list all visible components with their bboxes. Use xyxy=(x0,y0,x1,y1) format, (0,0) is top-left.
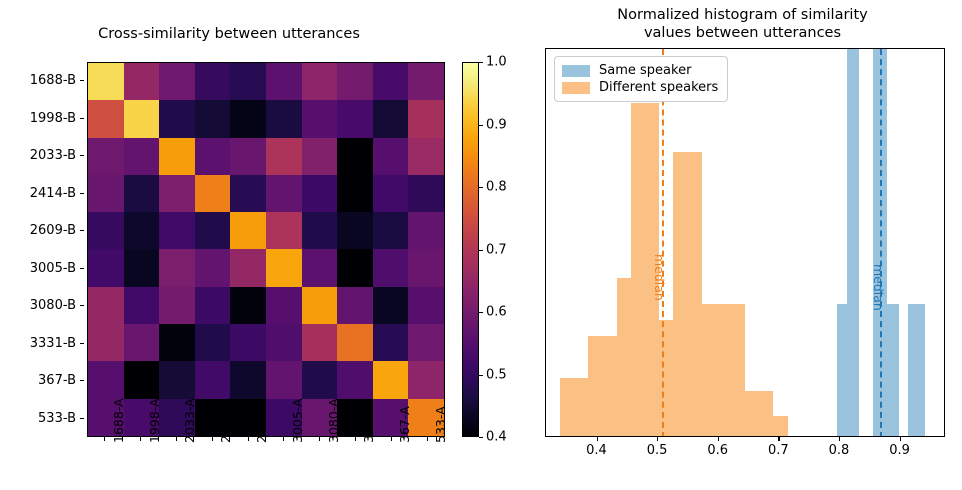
heatmap-y-label-8: 367-B xyxy=(0,362,80,400)
tick-mark xyxy=(80,118,84,119)
heatmap-cell-r1-c5 xyxy=(266,100,302,137)
heatmap-cell-r2-c0 xyxy=(88,138,124,175)
tick-mark xyxy=(80,155,84,156)
heatmap-cell-r2-c4 xyxy=(230,138,266,175)
heatmap-cell-r1-c7 xyxy=(337,100,373,137)
heatmap-x-label-8: 367-A xyxy=(397,406,412,443)
legend-label-different-speakers: Different speakers xyxy=(599,80,718,95)
heatmap-x-label-wrap-6: 3080-A xyxy=(302,443,338,490)
histogram-x-tick-1 xyxy=(657,437,658,441)
histogram-title-line2: values between utterances xyxy=(530,24,955,42)
heatmap-cell-r0-c5 xyxy=(266,63,302,100)
histogram-bar-same-speaker-0 xyxy=(837,304,847,436)
heatmap-cell-r6-c1 xyxy=(124,287,160,324)
colorbar-tick-0 xyxy=(479,437,483,438)
histogram-x-tick-label-4: 0.8 xyxy=(829,443,850,458)
colorbar-tick-label-3: 0.7 xyxy=(486,242,507,257)
heatmap-y-tick-2 xyxy=(80,137,87,175)
heatmap-cell-r7-c7 xyxy=(337,324,373,361)
histogram-x-tick-0 xyxy=(597,437,598,441)
heatmap-cell-r1-c9 xyxy=(408,100,444,137)
tick-mark xyxy=(80,380,84,381)
median-line-same-speaker xyxy=(880,49,882,437)
histogram-bar-different-speakers-5 xyxy=(673,152,701,436)
heatmap-cell-r8-c9 xyxy=(408,361,444,398)
heatmap-cell-r6-c8 xyxy=(373,287,409,324)
heatmap-y-label-1: 1998-B xyxy=(0,100,80,138)
heatmap-y-label-5: 3005-B xyxy=(0,250,80,288)
heatmap-cell-r3-c1 xyxy=(124,175,160,212)
colorbar-tick-5 xyxy=(479,125,483,126)
heatmap-panel: Cross-similarity between utterances 1688… xyxy=(0,0,520,490)
heatmap-x-label-4: 2609-A xyxy=(254,398,269,443)
heatmap-cell-r5-c1 xyxy=(124,249,160,286)
median-label-same-speaker: median xyxy=(871,264,886,311)
heatmap-y-label-3: 2414-B xyxy=(0,175,80,213)
heatmap-cell-r4-c2 xyxy=(159,212,195,249)
tick-mark xyxy=(80,343,84,344)
colorbar-tick-4 xyxy=(479,187,483,188)
tick-mark xyxy=(176,437,177,441)
legend-item-same-speaker: Same speaker xyxy=(562,62,718,79)
histogram-bar-different-speakers-6 xyxy=(702,304,745,436)
heatmap-x-label-wrap-2: 2033-A xyxy=(159,443,195,490)
heatmap-cell-r0-c1 xyxy=(124,63,160,100)
histogram-x-axis-ticks xyxy=(545,437,945,442)
median-line-different-speakers xyxy=(662,49,664,437)
heatmap-cell-r5-c3 xyxy=(195,249,231,286)
colorbar-tick-labels: 0.40.50.60.70.80.91.0 xyxy=(486,62,520,437)
histogram-bar-same-speaker-1 xyxy=(847,48,859,436)
heatmap-plot-area xyxy=(87,62,445,437)
heatmap-cell-r8-c0 xyxy=(88,361,124,398)
heatmap-cell-r1-c8 xyxy=(373,100,409,137)
colorbar-tick-2 xyxy=(479,312,483,313)
colorbar-tick-label-0: 0.4 xyxy=(486,430,507,445)
tick-mark xyxy=(391,437,392,441)
histogram-bar-same-speaker-4 xyxy=(908,304,925,436)
tick-mark xyxy=(248,437,249,441)
heatmap-title: Cross-similarity between utterances xyxy=(0,26,458,42)
heatmap-cell-r0-c4 xyxy=(230,63,266,100)
heatmap-y-tick-4 xyxy=(80,212,87,250)
heatmap-x-label-wrap-3: 2414-A xyxy=(194,443,230,490)
colorbar-tick-label-1: 0.5 xyxy=(486,367,507,382)
heatmap-y-tick-6 xyxy=(80,287,87,325)
heatmap-x-label-2: 2033-A xyxy=(182,398,197,443)
heatmap-cell-r5-c6 xyxy=(302,249,338,286)
histogram-bar-different-speakers-0 xyxy=(560,378,588,436)
heatmap-cell-r4-c7 xyxy=(337,212,373,249)
histogram-x-tick-label-5: 0.9 xyxy=(889,443,910,458)
histogram-bar-same-speaker-3 xyxy=(887,304,900,436)
heatmap-x-label-9: 533-A xyxy=(433,406,448,443)
tick-mark xyxy=(80,230,84,231)
heatmap-cell-r3-c8 xyxy=(373,175,409,212)
heatmap-cell-r7-c3 xyxy=(195,324,231,361)
histogram-x-axis-labels: 0.40.50.60.70.80.9 xyxy=(545,443,945,463)
histogram-bar-different-speakers-8 xyxy=(773,416,788,436)
heatmap-cell-r7-c1 xyxy=(124,324,160,361)
heatmap-y-tick-3 xyxy=(80,175,87,213)
heatmap-x-label-wrap-7: 3331-A xyxy=(338,443,374,490)
heatmap-cell-r2-c2 xyxy=(159,138,195,175)
heatmap-cell-r5-c2 xyxy=(159,249,195,286)
heatmap-cell-grid xyxy=(88,63,444,436)
histogram-title-line1: Normalized histogram of similarity xyxy=(530,6,955,24)
colorbar-tick-1 xyxy=(479,375,483,376)
heatmap-cell-r4-c8 xyxy=(373,212,409,249)
heatmap-y-tick-8 xyxy=(80,362,87,400)
heatmap-cell-r5-c8 xyxy=(373,249,409,286)
heatmap-cell-r3-c2 xyxy=(159,175,195,212)
heatmap-cell-r8-c2 xyxy=(159,361,195,398)
heatmap-cell-r8-c6 xyxy=(302,361,338,398)
heatmap-cell-r5-c9 xyxy=(408,249,444,286)
heatmap-cell-r1-c3 xyxy=(195,100,231,137)
legend-label-same-speaker: Same speaker xyxy=(599,63,691,78)
heatmap-cell-r3-c3 xyxy=(195,175,231,212)
heatmap-cell-r5-c0 xyxy=(88,249,124,286)
heatmap-x-label-wrap-5: 3005-A xyxy=(266,443,302,490)
heatmap-cell-r8-c3 xyxy=(195,361,231,398)
histogram-legend: Same speaker Different speakers xyxy=(554,56,728,102)
tick-mark xyxy=(427,437,428,441)
histogram-plot-area: medianmedian Same speaker Different spea… xyxy=(545,48,945,437)
heatmap-cell-r7-c8 xyxy=(373,324,409,361)
heatmap-cell-r6-c3 xyxy=(195,287,231,324)
heatmap-cell-r8-c1 xyxy=(124,361,160,398)
heatmap-y-tick-5 xyxy=(80,250,87,288)
heatmap-y-label-6: 3080-B xyxy=(0,287,80,325)
histogram-x-tick-label-0: 0.4 xyxy=(586,443,607,458)
heatmap-x-label-wrap-8: 367-A xyxy=(373,443,409,490)
heatmap-cell-r3-c9 xyxy=(408,175,444,212)
heatmap-x-label-1: 1998-A xyxy=(147,398,162,443)
colorbar-tick-label-6: 1.0 xyxy=(486,55,507,70)
heatmap-cell-r7-c0 xyxy=(88,324,124,361)
heatmap-x-label-6: 3080-A xyxy=(326,398,341,443)
heatmap-y-label-9: 533-B xyxy=(0,400,80,438)
tick-mark xyxy=(80,193,84,194)
histogram-x-tick-label-3: 0.7 xyxy=(768,443,789,458)
heatmap-x-axis-labels: 1688-A1998-A2033-A2414-A2609-A3005-A3080… xyxy=(87,443,445,490)
heatmap-cell-r6-c6 xyxy=(302,287,338,324)
tick-mark xyxy=(80,80,84,81)
heatmap-cell-r5-c4 xyxy=(230,249,266,286)
heatmap-cell-r0-c3 xyxy=(195,63,231,100)
heatmap-cell-r6-c9 xyxy=(408,287,444,324)
tick-mark xyxy=(80,418,84,419)
heatmap-cell-r8-c7 xyxy=(337,361,373,398)
tick-mark xyxy=(104,437,105,441)
tick-mark xyxy=(80,268,84,269)
heatmap-cell-r2-c9 xyxy=(408,138,444,175)
colorbar-tick-label-2: 0.6 xyxy=(486,305,507,320)
heatmap-y-label-4: 2609-B xyxy=(0,212,80,250)
heatmap-x-label-wrap-9: 533-A xyxy=(409,443,445,490)
histogram-x-tick-label-1: 0.5 xyxy=(647,443,668,458)
heatmap-cell-r0-c7 xyxy=(337,63,373,100)
histogram-x-tick-4 xyxy=(839,437,840,441)
histogram-bar-different-speakers-7 xyxy=(745,391,773,436)
heatmap-x-label-0: 1688-A xyxy=(111,398,126,443)
tick-mark xyxy=(355,437,356,441)
heatmap-x-label-wrap-4: 2609-A xyxy=(230,443,266,490)
tick-mark xyxy=(319,437,320,441)
heatmap-cell-r7-c2 xyxy=(159,324,195,361)
heatmap-y-axis-labels: 1688-B1998-B2033-B2414-B2609-B3005-B3080… xyxy=(0,62,80,437)
colorbar-tick-label-5: 0.9 xyxy=(486,117,507,132)
heatmap-y-tick-7 xyxy=(80,325,87,363)
histogram-x-tick-3 xyxy=(778,437,779,441)
legend-swatch-different-speakers xyxy=(562,82,590,94)
histogram-bar-different-speakers-2 xyxy=(617,278,631,436)
tick-mark xyxy=(80,305,84,306)
heatmap-cell-r0-c8 xyxy=(373,63,409,100)
heatmap-y-tick-9 xyxy=(80,400,87,438)
colorbar-tick-3 xyxy=(479,250,483,251)
colorbar-tick-6 xyxy=(479,62,483,63)
heatmap-y-label-0: 1688-B xyxy=(0,62,80,100)
heatmap-cell-r0-c6 xyxy=(302,63,338,100)
heatmap-cell-r2-c1 xyxy=(124,138,160,175)
heatmap-cell-r5-c5 xyxy=(266,249,302,286)
heatmap-cell-r1-c1 xyxy=(124,100,160,137)
heatmap-cell-r4-c3 xyxy=(195,212,231,249)
heatmap-y-tick-0 xyxy=(80,62,87,100)
heatmap-cell-r3-c6 xyxy=(302,175,338,212)
heatmap-cell-r1-c0 xyxy=(88,100,124,137)
heatmap-cell-r4-c4 xyxy=(230,212,266,249)
colorbar-ticks xyxy=(479,62,485,437)
tick-mark xyxy=(212,437,213,441)
median-label-different-speakers: median xyxy=(652,254,667,301)
histogram-bar-different-speakers-1 xyxy=(588,336,616,436)
heatmap-cell-r0-c2 xyxy=(159,63,195,100)
heatmap-cell-r2-c3 xyxy=(195,138,231,175)
heatmap-x-label-wrap-1: 1998-A xyxy=(123,443,159,490)
heatmap-cell-r0-c9 xyxy=(408,63,444,100)
heatmap-cell-r8-c8 xyxy=(373,361,409,398)
heatmap-x-label-wrap-0: 1688-A xyxy=(87,443,123,490)
heatmap-y-axis-ticks xyxy=(80,62,87,437)
heatmap-y-label-2: 2033-B xyxy=(0,137,80,175)
heatmap-cell-r6-c2 xyxy=(159,287,195,324)
heatmap-cell-r2-c6 xyxy=(302,138,338,175)
legend-item-different-speakers: Different speakers xyxy=(562,79,718,96)
heatmap-cell-r4-c6 xyxy=(302,212,338,249)
legend-swatch-same-speaker xyxy=(562,65,590,77)
heatmap-cell-r6-c4 xyxy=(230,287,266,324)
tick-mark xyxy=(140,437,141,441)
heatmap-cell-r1-c6 xyxy=(302,100,338,137)
heatmap-cell-r1-c4 xyxy=(230,100,266,137)
heatmap-cell-r3-c7 xyxy=(337,175,373,212)
heatmap-cell-r7-c5 xyxy=(266,324,302,361)
heatmap-cell-r2-c5 xyxy=(266,138,302,175)
heatmap-cell-r4-c1 xyxy=(124,212,160,249)
heatmap-x-label-5: 3005-A xyxy=(290,398,305,443)
colorbar-tick-label-4: 0.8 xyxy=(486,180,507,195)
heatmap-cell-r1-c2 xyxy=(159,100,195,137)
heatmap-cell-r2-c8 xyxy=(373,138,409,175)
heatmap-cell-r0-c0 xyxy=(88,63,124,100)
histogram-x-tick-label-2: 0.6 xyxy=(707,443,728,458)
tick-mark xyxy=(283,437,284,441)
heatmap-cell-r4-c5 xyxy=(266,212,302,249)
heatmap-cell-r7-c4 xyxy=(230,324,266,361)
heatmap-cell-r3-c4 xyxy=(230,175,266,212)
colorbar-gradient xyxy=(463,63,478,436)
heatmap-cell-r8-c5 xyxy=(266,361,302,398)
heatmap-x-label-7: 3331-A xyxy=(361,398,376,443)
heatmap-cell-r6-c5 xyxy=(266,287,302,324)
heatmap-cell-r7-c6 xyxy=(302,324,338,361)
heatmap-cell-r6-c0 xyxy=(88,287,124,324)
histogram-title: Normalized histogram of similarity value… xyxy=(530,6,955,42)
heatmap-cell-r3-c0 xyxy=(88,175,124,212)
heatmap-cell-r7-c9 xyxy=(408,324,444,361)
histogram-panel: Normalized histogram of similarity value… xyxy=(520,0,962,490)
heatmap-cell-r2-c7 xyxy=(337,138,373,175)
heatmap-cell-r8-c4 xyxy=(230,361,266,398)
heatmap-x-label-3: 2414-A xyxy=(218,398,233,443)
heatmap-cell-r6-c7 xyxy=(337,287,373,324)
histogram-x-tick-2 xyxy=(718,437,719,441)
heatmap-cell-r4-c0 xyxy=(88,212,124,249)
heatmap-cell-r4-c9 xyxy=(408,212,444,249)
heatmap-y-label-7: 3331-B xyxy=(0,325,80,363)
heatmap-cell-r5-c7 xyxy=(337,249,373,286)
heatmap-y-tick-1 xyxy=(80,100,87,138)
colorbar xyxy=(462,62,479,437)
heatmap-cell-r3-c5 xyxy=(266,175,302,212)
histogram-x-tick-5 xyxy=(900,437,901,441)
